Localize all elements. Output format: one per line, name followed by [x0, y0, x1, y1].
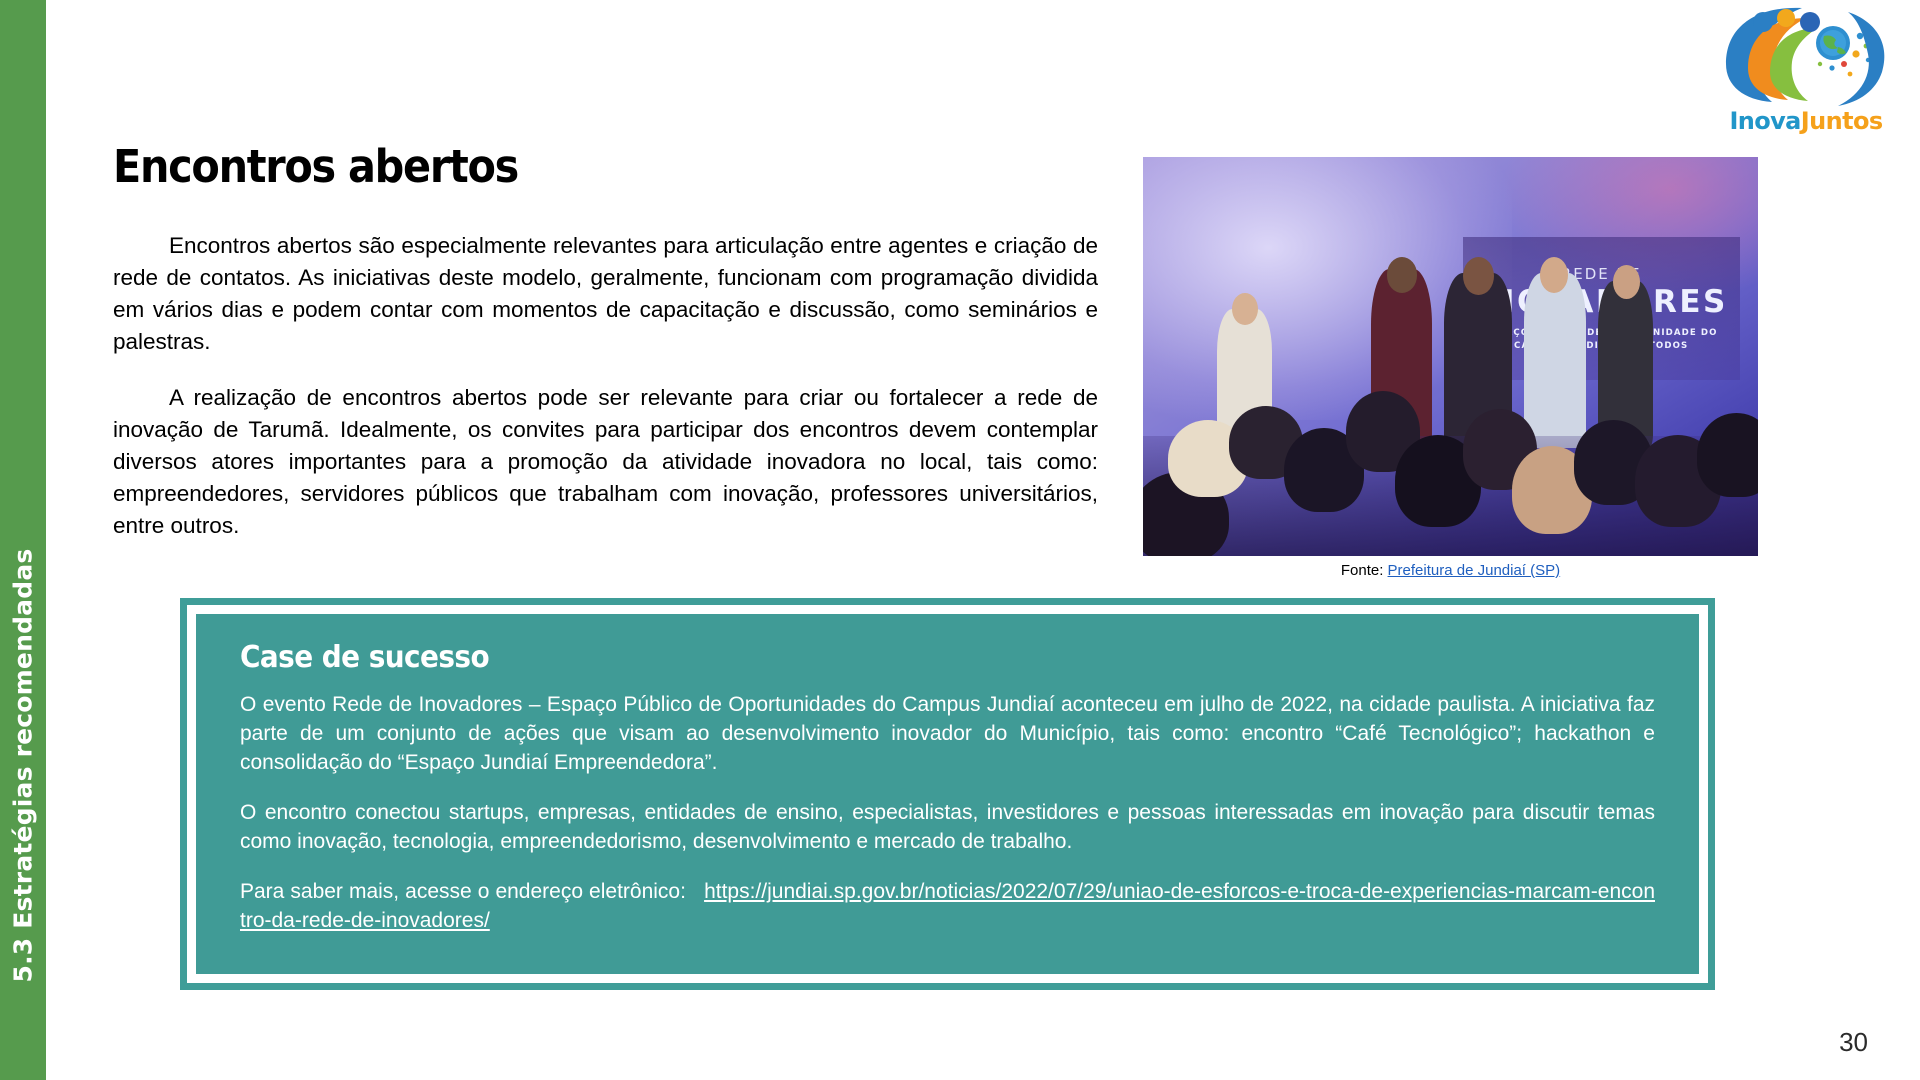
body-paragraph-2: A realização de encontros abertos pode s…: [113, 382, 1098, 542]
case-study-inner: Case de sucesso O evento Rede de Inovado…: [196, 614, 1699, 974]
photo-person-head: [1540, 257, 1568, 293]
case-paragraph-2: O encontro conectou startups, empresas, …: [240, 799, 1655, 857]
logo-word-inova: Inova: [1729, 107, 1800, 135]
photo-person-head: [1613, 265, 1640, 299]
sidebar-section-label: 5.3 Estratégias recomendadas: [9, 548, 38, 982]
photo-caption: Fonte: Prefeitura de Jundiaí (SP): [1143, 562, 1758, 579]
case-link-prefix: Para saber mais, acesse o endereço eletr…: [240, 880, 686, 903]
photo-person-head: [1463, 257, 1494, 295]
logo-wordmark: InovaJuntos: [1720, 107, 1892, 135]
body-text-column: Encontros abertos são especialmente rele…: [113, 230, 1098, 541]
body-paragraph-1: Encontros abertos são especialmente rele…: [113, 230, 1098, 358]
case-study-box: Case de sucesso O evento Rede de Inovado…: [180, 598, 1715, 990]
caption-prefix: Fonte:: [1341, 562, 1384, 579]
slide-canvas: 5.3 Estratégias recomendadas In: [0, 0, 1920, 1080]
inovajuntos-logo: InovaJuntos: [1720, 2, 1892, 137]
logo-word-juntos: Juntos: [1801, 107, 1883, 135]
photo-person-head: [1387, 257, 1418, 293]
photo-audience: [1143, 372, 1758, 556]
photo-person-head: [1232, 293, 1258, 325]
page-number: 30: [1839, 1027, 1868, 1058]
page-title: Encontros abertos: [113, 140, 518, 193]
inovajuntos-logo-mark: [1720, 2, 1892, 112]
event-photo: REDE DE INOVADORES ESPAÇO PÚBLICO DE OPO…: [1143, 157, 1758, 556]
case-study-title: Case de sucesso: [240, 640, 1556, 675]
photo-audience-head: [1697, 413, 1759, 497]
sidebar-rotated-label-wrap: 5.3 Estratégias recomendadas: [0, 360, 46, 1080]
case-paragraph-3: Para saber mais, acesse o endereço eletr…: [240, 878, 1655, 936]
case-paragraph-1: O evento Rede de Inovadores – Espaço Púb…: [240, 691, 1655, 778]
caption-source-link[interactable]: Prefeitura de Jundiaí (SP): [1388, 562, 1561, 579]
left-section-sidebar: 5.3 Estratégias recomendadas: [0, 0, 46, 1080]
photo-figure: REDE DE INOVADORES ESPAÇO PÚBLICO DE OPO…: [1143, 157, 1758, 556]
